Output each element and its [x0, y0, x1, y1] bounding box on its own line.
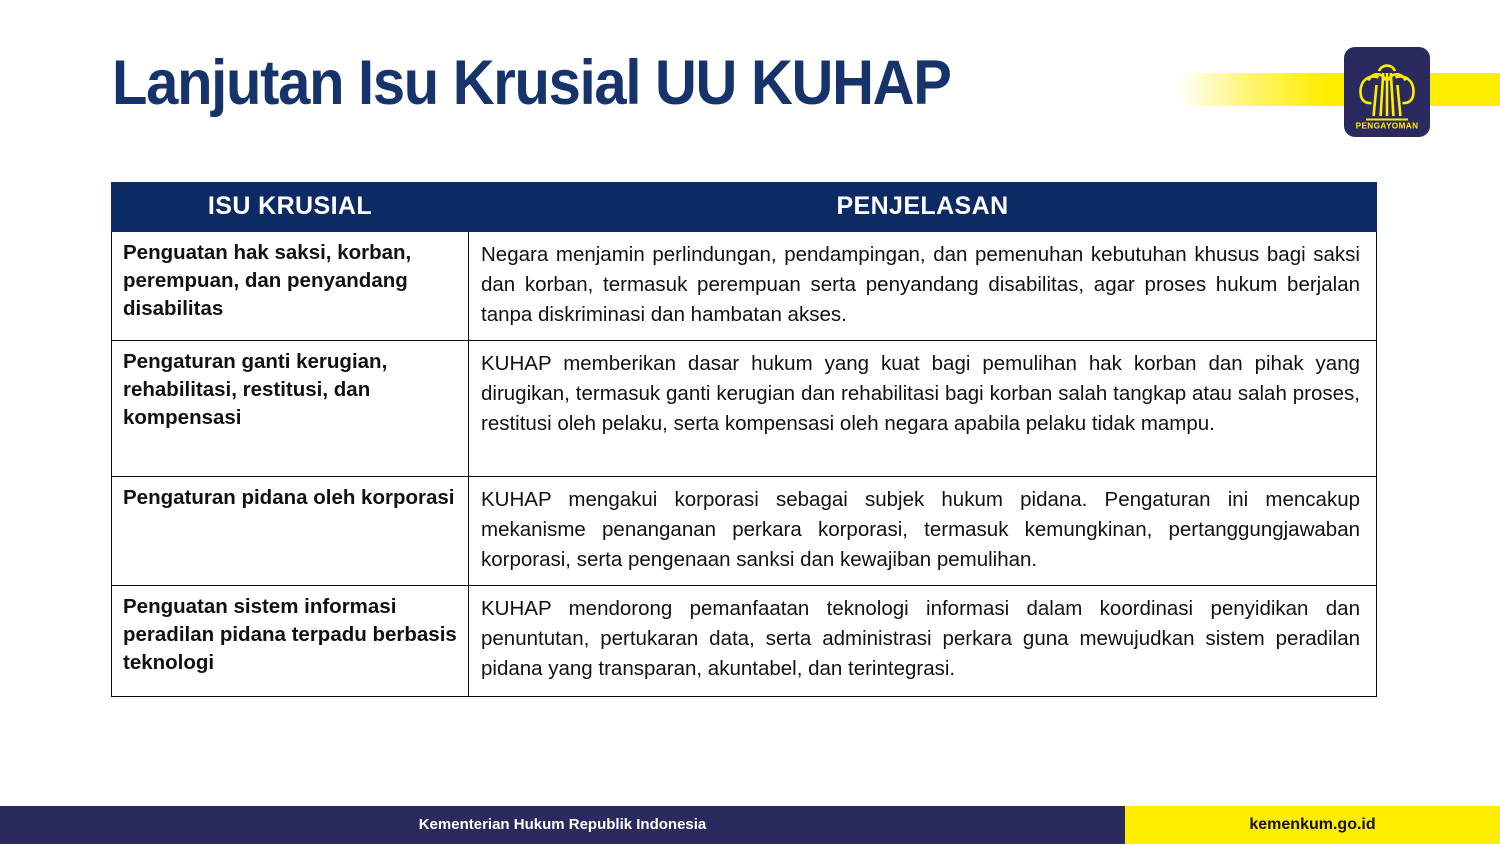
issue-cell: Penguatan hak saksi, korban, perempuan, … — [112, 232, 469, 341]
column-header-issue: ISU KRUSIAL — [112, 183, 469, 232]
page-title: Lanjutan Isu Krusial UU KUHAP — [112, 47, 951, 119]
svg-text:PENGAYOMAN: PENGAYOMAN — [1356, 122, 1419, 131]
explanation-cell: Negara menjamin perlindungan, pendamping… — [469, 232, 1377, 341]
crucial-issues-table: ISU KRUSIAL PENJELASAN Penguatan hak sak… — [111, 182, 1377, 697]
issue-cell: Penguatan sistem informasi peradilan pid… — [112, 586, 469, 697]
table-row: Penguatan hak saksi, korban, perempuan, … — [112, 232, 1377, 341]
table-row: Penguatan sistem informasi peradilan pid… — [112, 586, 1377, 697]
issue-cell: Pengaturan ganti kerugian, rehabilitasi,… — [112, 341, 469, 477]
explanation-cell: KUHAP mendorong pemanfaatan teknologi in… — [469, 586, 1377, 697]
brand-yellow-band — [1178, 73, 1500, 106]
issue-cell: Pengaturan pidana oleh korporasi — [112, 477, 469, 586]
footer-ministry-label: Kementerian Hukum Republik Indonesia — [0, 806, 1125, 844]
column-header-explanation: PENJELASAN — [469, 183, 1377, 232]
explanation-cell: KUHAP mengakui korporasi sebagai subjek … — [469, 477, 1377, 586]
pengayoman-logo: PENGAYOMAN — [1344, 47, 1430, 137]
footer-website-link[interactable]: kemenkum.go.id — [1125, 806, 1500, 844]
slide-footer: Kementerian Hukum Republik Indonesia kem… — [0, 806, 1500, 844]
table-header-row: ISU KRUSIAL PENJELASAN — [112, 183, 1377, 232]
table-row: Pengaturan ganti kerugian, rehabilitasi,… — [112, 341, 1377, 477]
table-row: Pengaturan pidana oleh korporasi KUHAP m… — [112, 477, 1377, 586]
explanation-cell: KUHAP memberikan dasar hukum yang kuat b… — [469, 341, 1377, 477]
